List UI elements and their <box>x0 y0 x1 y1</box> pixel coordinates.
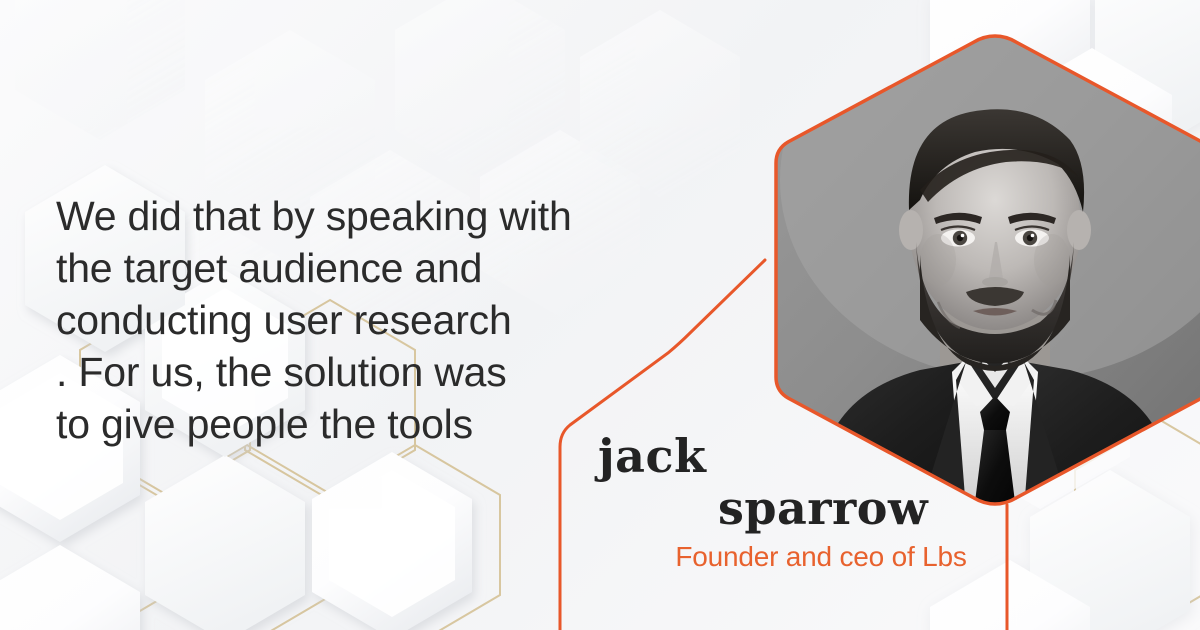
speaker-first-name: jack <box>598 430 1010 482</box>
speaker-name-block: jack sparrow Founder and ceo of Lbs <box>590 430 1010 574</box>
speaker-role: Founder and ceo of Lbs <box>632 540 1010 574</box>
testimonial-card: We did that by speaking with the target … <box>0 0 1200 630</box>
speaker-last-name: sparrow <box>636 482 1010 534</box>
quote-text: We did that by speaking with the target … <box>56 190 656 450</box>
